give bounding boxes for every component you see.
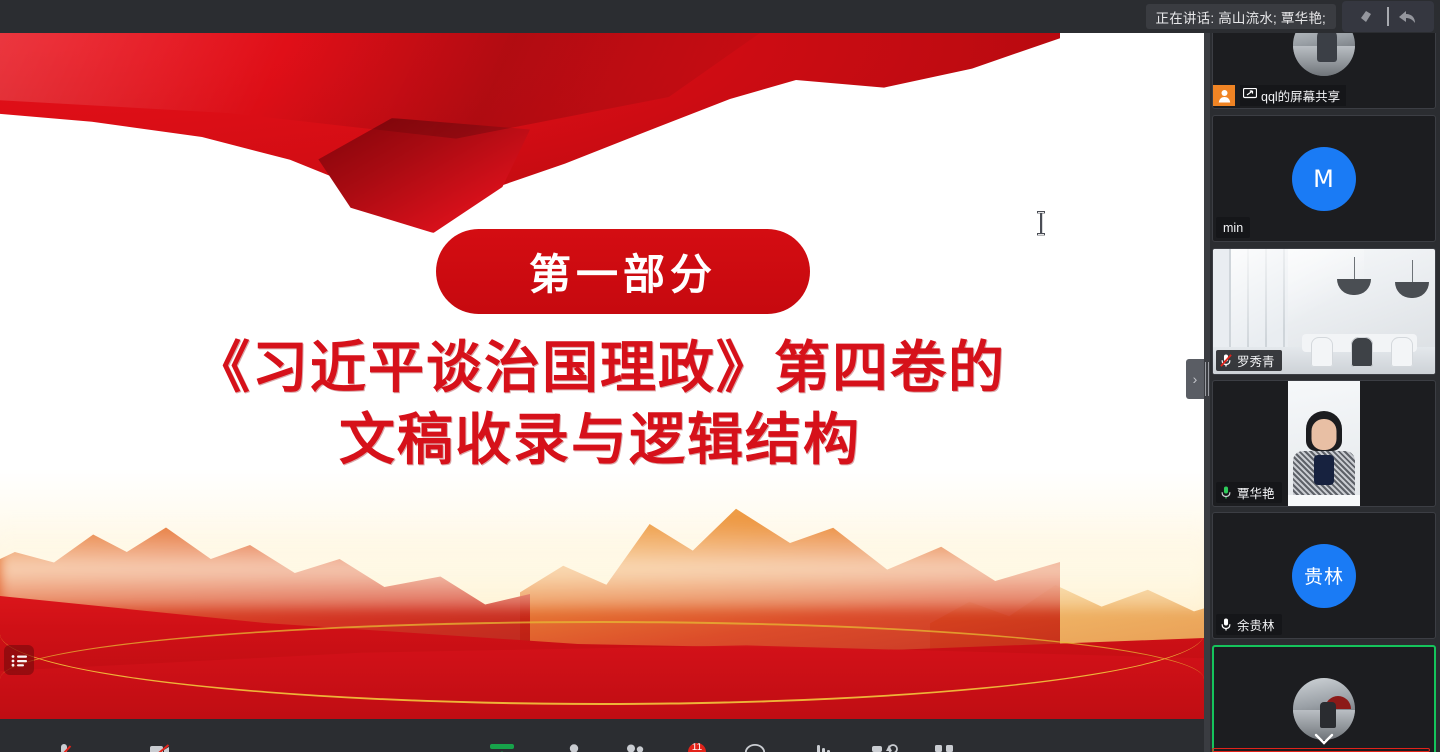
participant-tile[interactable]: 贵林 余贵林 xyxy=(1212,512,1436,639)
participant-tile[interactable]: M min xyxy=(1212,115,1436,242)
tile-name-label: min xyxy=(1223,221,1243,235)
video-feed xyxy=(1288,381,1360,507)
divider xyxy=(1387,7,1389,26)
tile-name-label: 覃华艳 xyxy=(1237,483,1275,502)
slide-scenery-decoration xyxy=(0,469,1204,719)
avatar-initial: M xyxy=(1313,165,1335,193)
apps-button[interactable] xyxy=(935,744,955,752)
reaction-button[interactable] xyxy=(872,744,898,752)
participant-tile-active[interactable] xyxy=(1212,645,1436,752)
user-orange-icon xyxy=(1213,85,1235,106)
avatar: 贵林 xyxy=(1292,544,1356,608)
topbar-actions xyxy=(1342,1,1434,32)
mist-layer xyxy=(0,519,1204,609)
avatar-initial: 贵林 xyxy=(1304,562,1344,589)
mic-on-icon xyxy=(1220,617,1232,633)
participants-icon xyxy=(624,744,646,752)
meeting-toolbar: 11 xyxy=(0,719,1204,752)
meeting-window: 正在讲话: 高山流水; 覃华艳; xyxy=(0,0,1440,752)
reaction-icon xyxy=(872,744,898,752)
tile-name-badge: 覃华艳 xyxy=(1216,482,1282,503)
video-button[interactable] xyxy=(150,744,170,752)
record-button[interactable] xyxy=(815,744,831,752)
avatar: M xyxy=(1292,147,1356,211)
audio-button[interactable] xyxy=(56,744,72,752)
speaking-label: 正在讲话: 高山流水; 覃华艳; xyxy=(1156,7,1326,27)
screen-share-icon xyxy=(1243,88,1257,103)
camera-icon xyxy=(150,744,170,752)
participant-rail[interactable]: qql的屏幕共享 M min xyxy=(1210,0,1440,752)
mic-active-icon xyxy=(1220,485,1232,501)
list-icon xyxy=(11,654,28,667)
tile-name-label: 罗秀青 xyxy=(1237,351,1275,370)
slide-part-badge: 第一部分 xyxy=(436,229,810,314)
participant-tile[interactable]: 罗秀青 xyxy=(1212,248,1436,375)
participants-count-badge: 11 xyxy=(688,743,706,752)
slide-title-line-1: 《习近平谈治国理政》第四卷的 xyxy=(90,333,1110,405)
presentation-slide: 第一部分 《习近平谈治国理政》第四卷的 文稿收录与逻辑结构 xyxy=(0,33,1204,719)
tile-name-label: 余贵林 xyxy=(1237,615,1275,634)
participant-tile[interactable]: 覃华艳 xyxy=(1212,380,1436,507)
rail-collapse-handle[interactable]: › xyxy=(1186,359,1204,399)
tile-name-badge: 罗秀青 xyxy=(1216,350,1282,371)
chat-button[interactable] xyxy=(745,744,765,752)
share-screen-button[interactable] xyxy=(490,744,514,752)
apps-grid-icon xyxy=(935,744,955,752)
tile-name-badge: qql的屏幕共享 xyxy=(1213,85,1353,106)
rail-highlight-strip xyxy=(1212,748,1430,752)
slide-title: 《习近平谈治国理政》第四卷的 文稿收录与逻辑结构 xyxy=(90,333,1110,476)
invite-person-icon xyxy=(566,744,582,752)
slide-title-line-2: 文稿收录与逻辑结构 xyxy=(90,405,1110,477)
speaking-indicator: 正在讲话: 高山流水; 覃华艳; xyxy=(1146,4,1336,29)
share-screen-icon xyxy=(490,744,514,752)
top-bar: 正在讲话: 高山流水; 覃华艳; xyxy=(0,0,1440,33)
tile-name-badge: min xyxy=(1216,217,1250,238)
invite-button[interactable] xyxy=(566,744,582,752)
slide-outline-button[interactable] xyxy=(4,645,34,675)
slide-part-label: 第一部分 xyxy=(529,241,717,302)
participants-count: 11 xyxy=(692,743,702,752)
shared-screen-stage[interactable]: 第一部分 《习近平谈治国理政》第四卷的 文稿收录与逻辑结构 xyxy=(0,33,1204,719)
chat-bubble-icon xyxy=(745,744,765,752)
microphone-icon xyxy=(56,744,72,752)
undo-arrow-icon[interactable] xyxy=(1393,5,1419,29)
share-screen-icon[interactable] xyxy=(1357,5,1383,29)
text-cursor xyxy=(1035,211,1047,237)
mic-muted-icon xyxy=(1220,353,1232,369)
chevron-right-icon: › xyxy=(1193,372,1198,386)
chevron-down-icon[interactable] xyxy=(1311,730,1337,748)
tile-name-label: qql的屏幕共享 xyxy=(1261,86,1340,105)
rail-resize-grip[interactable] xyxy=(1204,355,1210,403)
tile-name-badge: 余贵林 xyxy=(1216,614,1282,635)
participants-button[interactable] xyxy=(624,744,646,752)
record-icon xyxy=(815,744,831,752)
